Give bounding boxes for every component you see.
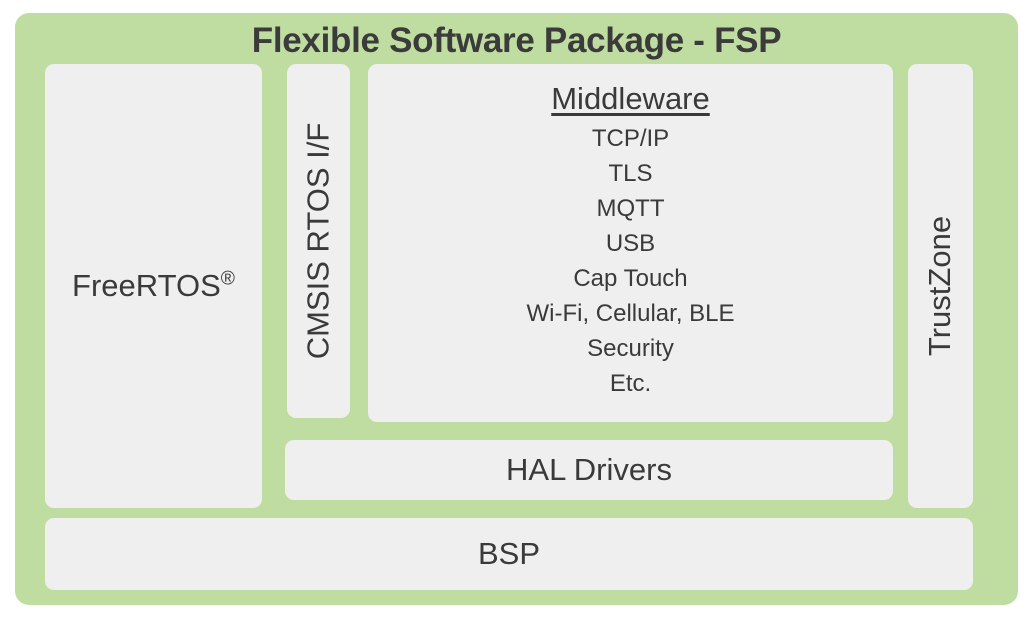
block-middleware: Middleware TCP/IP TLS MQTT USB Cap Touch… <box>368 64 893 422</box>
fsp-container: Flexible Software Package - FSP FreeRTOS… <box>15 13 1018 605</box>
middleware-heading: Middleware <box>368 80 893 117</box>
trustzone-label: TrustZone <box>923 216 959 356</box>
bsp-label: BSP <box>478 536 540 572</box>
middleware-item: Cap Touch <box>368 261 893 296</box>
block-trustzone: TrustZone <box>908 64 973 508</box>
hal-drivers-label: HAL Drivers <box>506 452 672 488</box>
registered-trademark-icon: ® <box>221 269 235 290</box>
freertos-label: FreeRTOS® <box>72 268 235 304</box>
middleware-item: Wi-Fi, Cellular, BLE <box>368 296 893 331</box>
middleware-item: Security <box>368 331 893 366</box>
block-cmsis-rtos-interface: CMSIS RTOS I/F <box>287 64 350 418</box>
cmsis-rtos-interface-label: CMSIS RTOS I/F <box>301 123 337 360</box>
middleware-item: MQTT <box>368 191 893 226</box>
middleware-item: TCP/IP <box>368 121 893 156</box>
block-bsp: BSP <box>45 518 973 590</box>
middleware-item-list: TCP/IP TLS MQTT USB Cap Touch Wi-Fi, Cel… <box>368 121 893 401</box>
fsp-architecture-diagram: Flexible Software Package - FSP FreeRTOS… <box>0 0 1033 619</box>
middleware-item: TLS <box>368 156 893 191</box>
middleware-item: Etc. <box>368 366 893 401</box>
middleware-item: USB <box>368 226 893 261</box>
freertos-label-text: FreeRTOS <box>72 268 221 303</box>
diagram-title: Flexible Software Package - FSP <box>15 21 1018 61</box>
block-hal-drivers: HAL Drivers <box>285 440 893 500</box>
block-freertos: FreeRTOS® <box>45 64 262 508</box>
